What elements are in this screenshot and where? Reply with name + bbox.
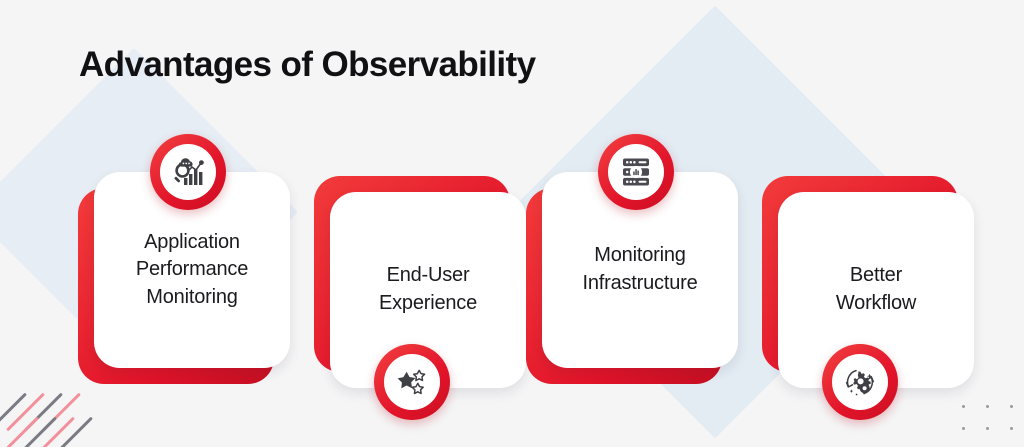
card-monitoring-infrastructure[interactable]: Monitoring Infrastructure	[526, 172, 738, 384]
analytics-magnifier-icon	[160, 144, 216, 200]
icon-badge-server[interactable]	[598, 134, 674, 210]
card-end-user-experience[interactable]: End-User Experience	[314, 176, 526, 388]
card-label: Monitoring Infrastructure	[572, 242, 707, 297]
gears-refresh-icon	[832, 354, 888, 410]
card-label: Better Workflow	[826, 262, 926, 317]
icon-badge-stars[interactable]	[374, 344, 450, 420]
infographic-canvas: Advantages of Observability Application …	[0, 0, 1024, 447]
stars-rating-icon	[384, 354, 440, 410]
server-rack-icon	[608, 144, 664, 200]
card-better-workflow[interactable]: Better Workflow	[762, 176, 974, 388]
card-label: Application Performance Monitoring	[126, 229, 258, 312]
card-label: End-User Experience	[369, 262, 487, 317]
icon-badge-workflow[interactable]	[822, 344, 898, 420]
card-application-performance-monitoring[interactable]: Application Performance Monitoring	[78, 172, 290, 384]
icon-badge-analytics[interactable]	[150, 134, 226, 210]
cards-row: Application Performance Monitoring	[0, 0, 1024, 447]
